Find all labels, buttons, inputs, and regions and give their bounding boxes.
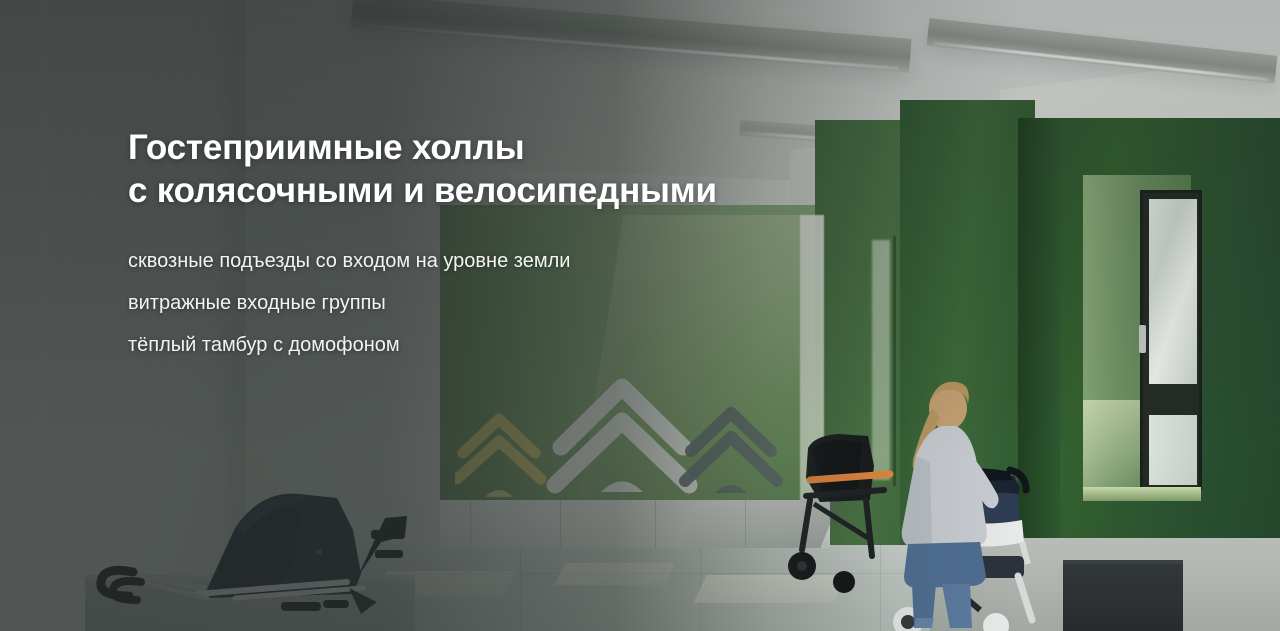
feature-item: тёплый тамбур с домофоном [128,334,888,357]
left-wall-corner-highlight [40,0,44,631]
chevron-group-slate [685,413,777,493]
window-glass-upper [1149,199,1197,384]
window-handle [1139,325,1146,353]
page-title: Гостеприимные холлы с колясочными и вело… [128,126,888,212]
chevron-mural [455,375,795,510]
headline-line-1: Гостеприимные холлы [128,128,524,167]
feature-item: сквозные подъезды со входом на уровне зе… [128,250,888,273]
black-pram-with-orange-bar [788,434,890,593]
window-glass-lower [1149,415,1197,485]
window-frame [1140,190,1202,490]
hero-banner: Гостеприимные холлы с колясочными и вело… [0,0,1280,631]
stroller-area-right [780,370,1080,631]
window-sill [1083,487,1201,501]
caption-block: Гостеприимные холлы с колясочными и вело… [128,126,888,376]
feature-item: витражные входные группы [128,292,888,315]
navy-pram-on-bench [85,470,445,620]
headline-line-2: с колясочными и велосипедными [128,171,717,210]
feature-list: сквозные подъезды со входом на уровне зе… [128,250,888,357]
wall-radiator [1063,560,1183,631]
chevron-group-white [555,387,689,492]
chevron-group-yellow [457,419,541,497]
